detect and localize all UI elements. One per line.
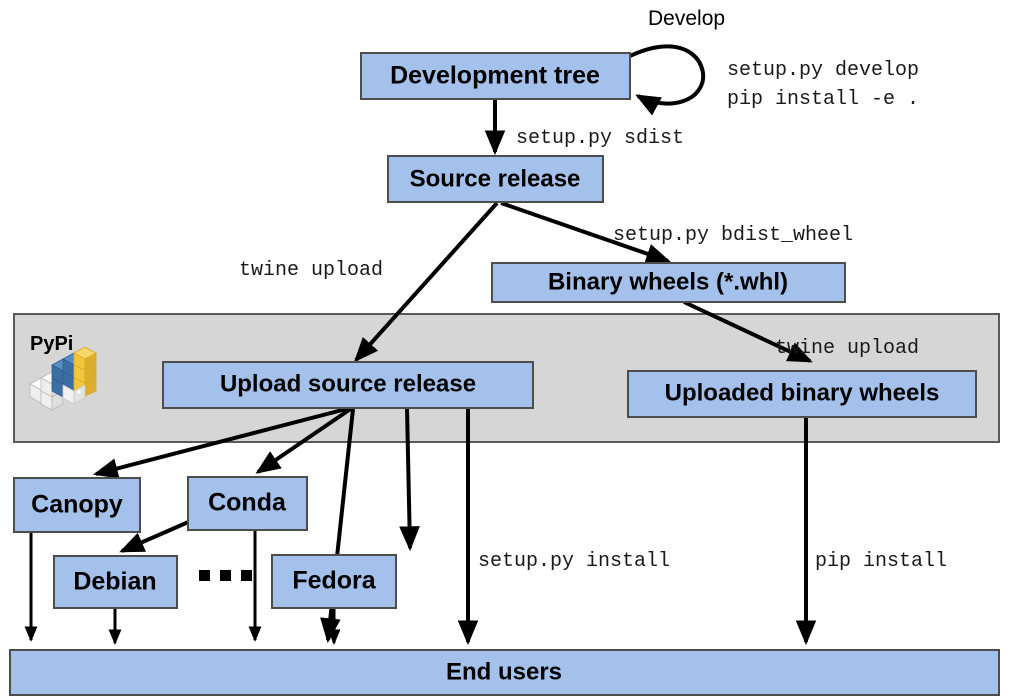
label-setup-develop: setup.py develop bbox=[727, 59, 919, 82]
development-tree-label: Development tree bbox=[390, 62, 600, 90]
node-end-users[interactable]: End users bbox=[10, 650, 999, 695]
label-twine-upload-wheels: twine upload bbox=[775, 337, 919, 360]
binary-wheels-label: Binary wheels (*.whl) bbox=[548, 268, 788, 295]
label-setup-bdist-wheel: setup.py bdist_wheel bbox=[613, 224, 853, 247]
label-develop: Develop bbox=[648, 7, 725, 30]
fedora-label: Fedora bbox=[292, 567, 376, 595]
conda-label: Conda bbox=[208, 489, 287, 517]
node-uploaded-binary-wheels[interactable]: Uploaded binary wheels bbox=[628, 371, 976, 417]
node-fedora[interactable]: Fedora bbox=[272, 555, 396, 608]
label-twine-upload-source: twine upload bbox=[239, 259, 383, 282]
node-source-release[interactable]: Source release bbox=[388, 156, 603, 202]
node-debian[interactable]: Debian bbox=[54, 556, 177, 608]
node-conda[interactable]: Conda bbox=[188, 477, 307, 530]
pypi-panel-label: PyPi bbox=[30, 333, 73, 355]
ellipsis-dots bbox=[199, 570, 252, 581]
node-upload-source-release[interactable]: Upload source release bbox=[163, 362, 533, 408]
source-release-label: Source release bbox=[410, 165, 581, 192]
edge-develop-selfloop bbox=[630, 46, 703, 103]
packaging-flow-diagram: PyPi bbox=[0, 0, 1009, 698]
node-canopy[interactable]: Canopy bbox=[14, 478, 140, 532]
uploaded-binary-wheels-label: Uploaded binary wheels bbox=[665, 379, 940, 406]
label-pip-install: pip install bbox=[815, 550, 947, 573]
node-development-tree[interactable]: Development tree bbox=[361, 53, 630, 99]
canopy-label: Canopy bbox=[31, 491, 123, 519]
node-binary-wheels[interactable]: Binary wheels (*.whl) bbox=[492, 263, 845, 302]
debian-label: Debian bbox=[73, 568, 156, 596]
label-setup-sdist: setup.py sdist bbox=[516, 127, 684, 150]
diagram-canvas: PyPi bbox=[0, 0, 1009, 698]
end-users-label: End users bbox=[446, 658, 562, 685]
label-setup-install: setup.py install bbox=[478, 550, 670, 573]
label-pip-install-editable: pip install -e . bbox=[727, 88, 919, 111]
upload-source-release-label: Upload source release bbox=[220, 370, 476, 397]
